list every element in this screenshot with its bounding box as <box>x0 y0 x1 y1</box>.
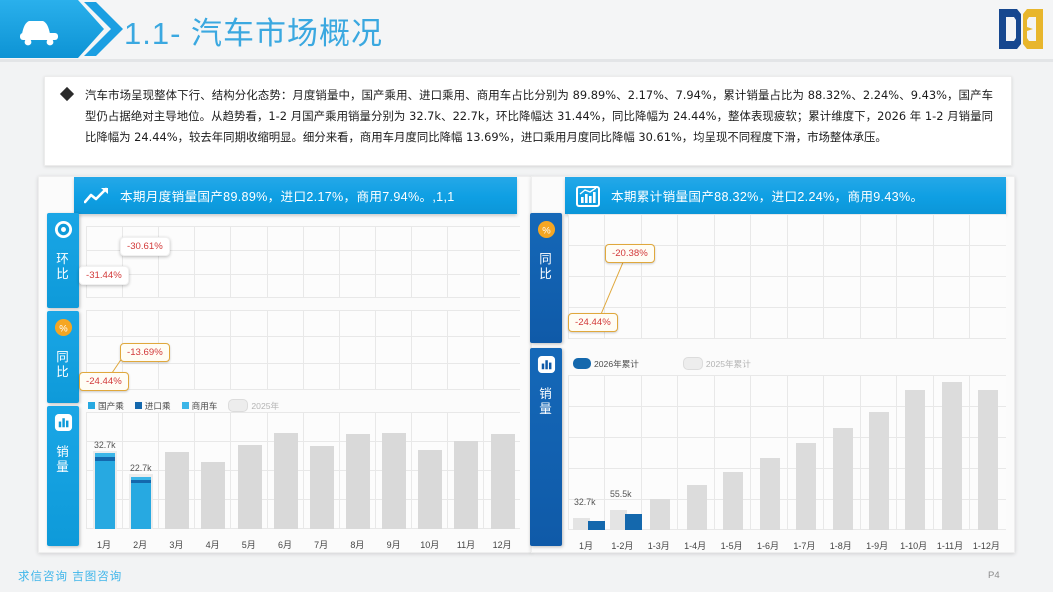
diamond-bullet-icon <box>60 87 74 101</box>
sidebar-item-yoy[interactable]: % 同比 <box>47 311 79 403</box>
yoy-callout-commercial: -13.69% <box>120 343 170 362</box>
bar-label-jan: 32.7k <box>94 440 116 450</box>
table-row <box>723 472 743 530</box>
right-volume-chart: 32.7k 55.5k <box>568 375 1006 530</box>
axis-tick-label: 1-4月 <box>675 539 715 552</box>
sidebar-item-volume-right[interactable]: 销量 <box>530 348 562 546</box>
left-panel-band: 本期月度销量国产89.89%，进口2.17%，商用7.94%。,1,1 <box>74 177 517 214</box>
axis-tick-label: 1-2月 <box>602 539 642 552</box>
axis-tick-label: 7月 <box>303 538 339 551</box>
bar-2026-2 <box>625 514 642 530</box>
bar-domestic-feb <box>131 483 151 529</box>
sidebar-item-volume[interactable]: 销量 <box>47 406 79 546</box>
axis-tick-label: 1-10月 <box>894 539 934 552</box>
legend-label: 2026年累计 <box>594 358 639 370</box>
target-icon <box>54 220 73 244</box>
bar-import-jan <box>95 457 115 461</box>
axis-tick-label: 3月 <box>158 538 194 551</box>
axis-tick-label: 1-3月 <box>639 539 679 552</box>
page-number: P4 <box>988 570 1000 581</box>
table-row <box>491 434 515 529</box>
legend-label: 2025年累计 <box>706 358 751 370</box>
table-row <box>978 390 998 530</box>
right-band-text: 本期累计销量国产88.32%，进口2.24%，商用9.43%。 <box>611 186 923 205</box>
axis-tick-label: 1-6月 <box>748 539 788 552</box>
axis-tick-label: 1月 <box>566 539 606 552</box>
left-volume-chart: 32.7k 22.7k <box>86 412 520 529</box>
right-yoy-callout-2: -24.44% <box>568 313 618 332</box>
axis-tick-label: 10月 <box>412 538 448 551</box>
axis-tick-label: 1-5月 <box>712 539 752 552</box>
legend-item[interactable]: 2026年累计 <box>573 358 639 370</box>
table-row <box>346 434 370 529</box>
axis-tick-label: 1-12月 <box>966 539 1006 552</box>
table-row <box>833 428 853 530</box>
right-yoy-callout-1: -20.38% <box>605 244 655 263</box>
mom-callout-import: -30.61% <box>120 237 170 256</box>
axis-tick-label: 1-8月 <box>821 539 861 552</box>
bar-label-feb: 22.7k <box>130 463 152 473</box>
right-panel-band: 本期累计销量国产88.32%，进口2.24%，商用9.43%。 <box>565 177 1006 214</box>
table-row <box>942 382 962 530</box>
summary-card: 汽车市场呈现整体下行、结构分化态势：月度销量中，国产乘用、进口乘用、商用车占比分… <box>44 76 1012 166</box>
header-divider <box>0 59 1053 62</box>
axis-tick-label: 8月 <box>339 538 375 551</box>
axis-tick-label: 1-9月 <box>857 539 897 552</box>
bar-commercial-feb <box>131 477 151 480</box>
table-row <box>905 390 925 530</box>
axis-tick-label: 1-11月 <box>930 539 970 552</box>
sidebar-item-label: 销量 <box>539 387 554 417</box>
table-row <box>274 433 298 529</box>
table-row <box>869 412 889 530</box>
right-volume-legend: 2026年累计 2025年累计 <box>573 357 758 370</box>
sidebar-item-label: 环比 <box>56 252 71 282</box>
legend-item[interactable]: 进口乘 <box>135 400 171 412</box>
table-row <box>760 458 780 530</box>
axis-tick-label: 6月 <box>267 538 303 551</box>
table-row <box>418 450 442 529</box>
legend-item[interactable]: 商用车 <box>182 400 218 412</box>
legend-item[interactable]: 国产乘 <box>88 400 124 412</box>
axis-tick-label: 5月 <box>231 538 267 551</box>
table-row <box>165 452 189 529</box>
percent-icon: % <box>54 318 73 342</box>
table-row <box>310 446 334 529</box>
page-header: 1.1- 汽车市场概况 <box>0 0 1053 62</box>
bar-2026-1 <box>588 521 605 530</box>
bar-import-feb <box>131 480 151 483</box>
sidebar-item-yoy-right[interactable]: % 同比 <box>530 213 562 343</box>
table-row <box>687 485 707 530</box>
axis-tick-label: 1-7月 <box>784 539 824 552</box>
axis-tick-label: 11月 <box>448 538 484 551</box>
bar-chart-icon <box>54 413 73 437</box>
svg-text:%: % <box>542 225 551 236</box>
legend-label: 商用车 <box>192 400 218 412</box>
table-row <box>382 433 406 529</box>
bar-chart-icon <box>537 355 556 379</box>
left-volume-legend: 国产乘 进口乘 商用车 2025年 <box>88 399 286 412</box>
table-row <box>238 445 262 529</box>
legend-item[interactable]: 2025年 <box>228 399 279 412</box>
table-row <box>796 443 816 530</box>
svg-text:%: % <box>59 323 68 334</box>
sidebar-item-label: 同比 <box>56 350 71 380</box>
sidebar-item-label: 同比 <box>539 252 554 282</box>
left-mom-chart: -30.61% -31.44% <box>86 226 520 298</box>
bar-label-1: 32.7k <box>574 497 596 507</box>
legend-label: 国产乘 <box>98 400 124 412</box>
mom-callout-domestic: -31.44% <box>79 266 129 285</box>
legend-label: 2025年 <box>251 400 279 412</box>
bar-chart-icon <box>565 185 611 207</box>
bar-commercial-jan <box>95 453 115 457</box>
left-yoy-chart: -13.69% -24.44% <box>86 310 520 390</box>
legend-label: 进口乘 <box>145 400 171 412</box>
summary-text: 汽车市场呈现整体下行、结构分化态势：月度销量中，国产乘用、进口乘用、商用车占比分… <box>85 85 993 148</box>
axis-tick-label: 9月 <box>376 538 412 551</box>
right-yoy-chart: -20.38% -24.44% <box>568 214 1006 339</box>
axis-tick-label: 4月 <box>195 538 231 551</box>
percent-icon: % <box>537 220 556 244</box>
db-logo-icon <box>995 6 1047 52</box>
bar-label-2: 55.5k <box>610 489 632 499</box>
axis-tick-label: 2月 <box>122 538 158 551</box>
left-band-text: 本期月度销量国产89.89%，进口2.17%，商用7.94%。,1,1 <box>120 186 455 205</box>
legend-item[interactable]: 2025年累计 <box>683 357 751 370</box>
bar-domestic-jan <box>95 461 115 529</box>
footer-brand: 求信咨询 吉图咨询 <box>18 568 122 584</box>
yoy-callout-domestic: -24.44% <box>79 372 129 391</box>
page-title: 1.1- 汽车市场概况 <box>124 8 383 53</box>
sidebar-item-mom[interactable]: 环比 <box>47 213 79 308</box>
axis-tick-label: 1月 <box>86 538 122 551</box>
table-row <box>454 441 478 529</box>
table-row <box>650 499 670 530</box>
sidebar-item-label: 销量 <box>56 445 71 475</box>
line-chart-icon <box>74 187 120 205</box>
table-row <box>201 462 225 529</box>
axis-tick-label: 12月 <box>484 538 520 551</box>
